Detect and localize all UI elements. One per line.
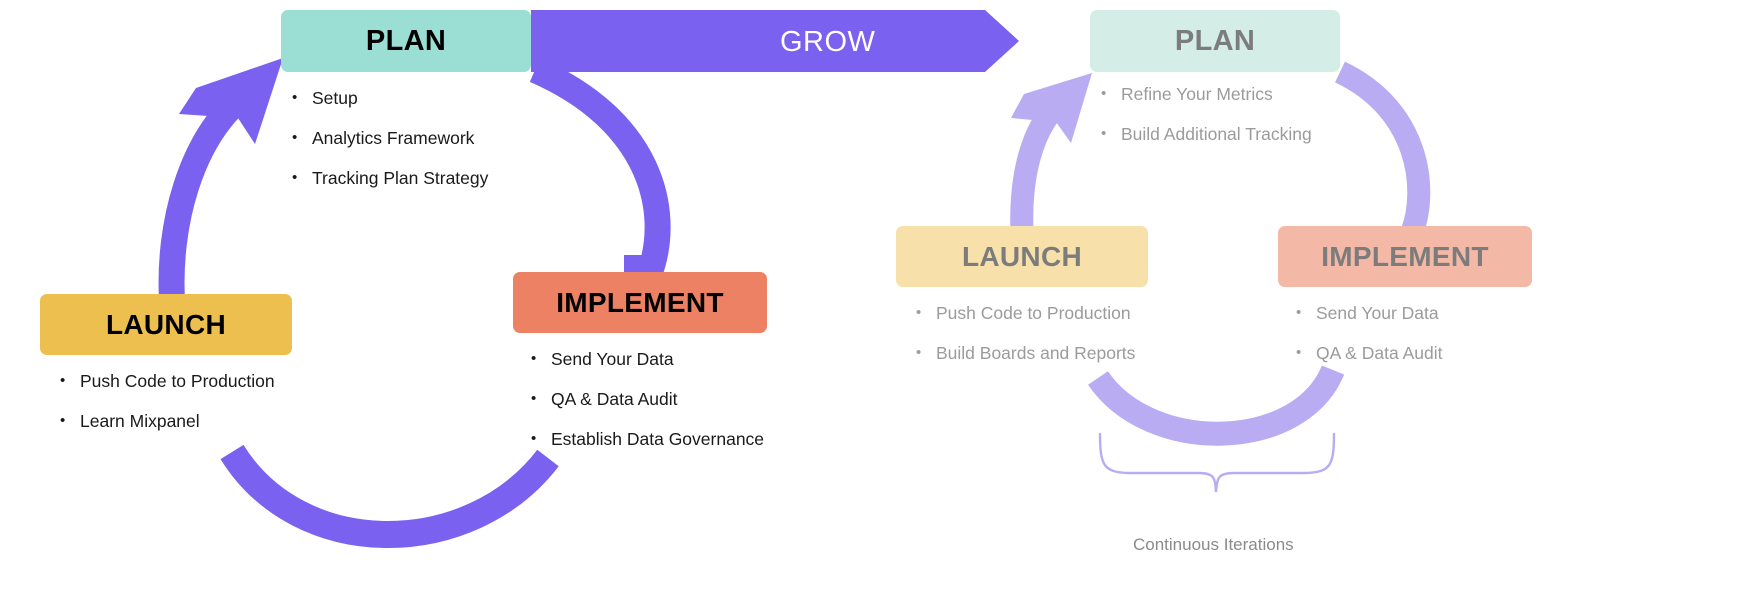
bullet-icon: • [292, 128, 312, 148]
bullet-icon: • [1296, 303, 1316, 323]
arrow-launch-to-plan [172, 58, 283, 300]
bullet-icon: • [531, 349, 551, 369]
list-item-label: Push Code to Production [936, 303, 1131, 325]
node-plan-faded-title: PLAN [1090, 10, 1340, 72]
node-launch-faded-title: LAUNCH [896, 226, 1148, 287]
arrow-plan-to-implement [535, 70, 658, 285]
bullet-icon: • [1101, 84, 1121, 104]
list-item: • Establish Data Governance [531, 429, 767, 451]
bullet-icon: • [60, 371, 80, 391]
node-launch-faded[interactable]: LAUNCH • Push Code to Production • Build… [896, 226, 1148, 383]
bullet-icon: • [1101, 124, 1121, 144]
list-item: • QA & Data Audit [1296, 343, 1532, 365]
node-launch-active[interactable]: LAUNCH • Push Code to Production • Learn… [40, 294, 292, 451]
list-item: • Setup [292, 88, 531, 110]
list-item: • Build Additional Tracking [1101, 124, 1340, 146]
list-item-label: Build Boards and Reports [936, 343, 1135, 365]
list-item-label: Establish Data Governance [551, 429, 764, 451]
list-item-label: Tracking Plan Strategy [312, 168, 488, 190]
list-item-label: QA & Data Audit [551, 389, 677, 411]
list-item-label: Push Code to Production [80, 371, 275, 393]
list-item: • Send Your Data [1296, 303, 1532, 325]
arrow-implement-to-launch [232, 452, 548, 535]
node-implement-faded-title: IMPLEMENT [1278, 226, 1532, 287]
list-item: • Tracking Plan Strategy [292, 168, 531, 190]
node-plan-faded[interactable]: PLAN • Refine Your Metrics • Build Addit… [1090, 10, 1340, 164]
bullet-icon: • [531, 389, 551, 409]
grow-arrow-banner [531, 10, 1019, 72]
list-item-label: QA & Data Audit [1316, 343, 1442, 365]
grow-label: GROW [780, 26, 875, 59]
list-item: • Build Boards and Reports [916, 343, 1148, 365]
node-launch-active-title: LAUNCH [40, 294, 292, 355]
list-item: • Push Code to Production [916, 303, 1148, 325]
node-implement-active[interactable]: IMPLEMENT • Send Your Data • QA & Data A… [513, 272, 767, 469]
node-plan-active[interactable]: PLAN • Setup • Analytics Framework • Tra… [281, 10, 531, 208]
node-implement-active-bullets: • Send Your Data • QA & Data Audit • Est… [513, 349, 767, 451]
list-item: • Send Your Data [531, 349, 767, 371]
diagram-canvas: GROW PLAN • Setup • Analytics Framework … [0, 0, 1740, 589]
bullet-icon: • [1296, 343, 1316, 363]
bullet-icon: • [916, 343, 936, 363]
list-item: • Refine Your Metrics [1101, 84, 1340, 106]
list-item-label: Refine Your Metrics [1121, 84, 1273, 106]
node-implement-faded-bullets: • Send Your Data • QA & Data Audit [1278, 303, 1532, 365]
list-item-label: Analytics Framework [312, 128, 474, 150]
list-item-label: Send Your Data [551, 349, 674, 371]
continuous-iterations-brace [1100, 434, 1334, 492]
continuous-iterations-label: Continuous Iterations [1133, 535, 1294, 555]
list-item: • Learn Mixpanel [60, 411, 292, 433]
node-implement-active-title: IMPLEMENT [513, 272, 767, 333]
list-item-label: Setup [312, 88, 358, 110]
list-item-label: Learn Mixpanel [80, 411, 200, 433]
list-item-label: Send Your Data [1316, 303, 1439, 325]
node-plan-faded-bullets: • Refine Your Metrics • Build Additional… [1090, 84, 1340, 146]
bullet-icon: • [292, 168, 312, 188]
arrow-plan-to-implement-faded [1340, 72, 1419, 232]
bullet-icon: • [916, 303, 936, 323]
node-implement-faded[interactable]: IMPLEMENT • Send Your Data • QA & Data A… [1278, 226, 1532, 383]
node-launch-faded-bullets: • Push Code to Production • Build Boards… [896, 303, 1148, 365]
bullet-icon: • [292, 88, 312, 108]
node-launch-active-bullets: • Push Code to Production • Learn Mixpan… [40, 371, 292, 433]
node-plan-active-title: PLAN [281, 10, 531, 72]
bullet-icon: • [60, 411, 80, 431]
list-item: • Push Code to Production [60, 371, 292, 393]
list-item-label: Build Additional Tracking [1121, 124, 1312, 146]
arrow-launch-to-plan-faded [1011, 73, 1092, 232]
list-item: • QA & Data Audit [531, 389, 767, 411]
list-item: • Analytics Framework [292, 128, 531, 150]
node-plan-active-bullets: • Setup • Analytics Framework • Tracking… [281, 88, 531, 190]
bullet-icon: • [531, 429, 551, 449]
